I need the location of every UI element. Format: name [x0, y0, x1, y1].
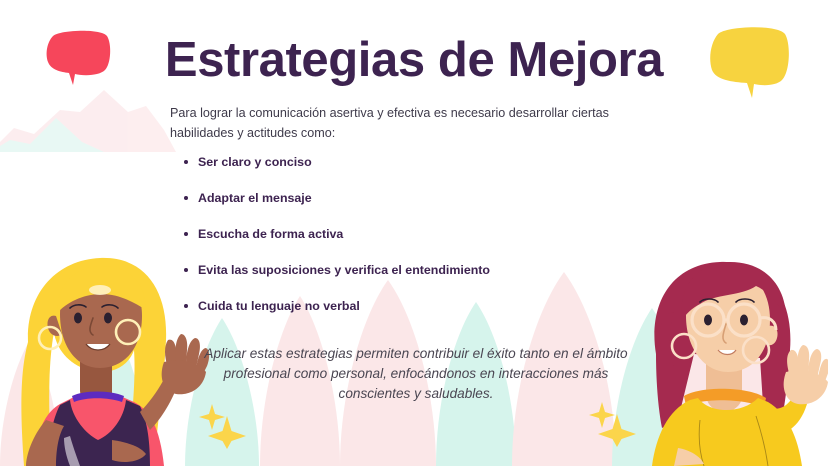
- list-item-label: Evita las suposiciones y verifica el ent…: [198, 263, 490, 277]
- strategies-list: Ser claro y conciso Adaptar el mensaje E…: [182, 155, 490, 334]
- page-title: Estrategias de Mejora: [0, 36, 828, 85]
- list-item: Adaptar el mensaje: [182, 191, 490, 206]
- list-item-label: Ser claro y conciso: [198, 155, 312, 169]
- closing-statement: Aplicar estas estrategias permiten contr…: [194, 344, 638, 404]
- woman-glasses-waving-illustration: [638, 250, 828, 466]
- list-item: Ser claro y conciso: [182, 155, 490, 170]
- list-item: Evita las suposiciones y verifica el ent…: [182, 263, 490, 278]
- list-item-label: Escucha de forma activa: [198, 227, 343, 241]
- list-item: Escucha de forma activa: [182, 227, 490, 242]
- sparkle-icon-left: [198, 402, 248, 450]
- list-item: Cuida tu lenguaje no verbal: [182, 299, 490, 314]
- list-item-label: Adaptar el mensaje: [198, 191, 312, 205]
- list-item-label: Cuida tu lenguaje no verbal: [198, 299, 360, 313]
- slide-canvas: Estrategias de Mejora Para lograr la com…: [0, 0, 828, 466]
- subtitle-text: Para lograr la comunicación asertiva y e…: [170, 104, 660, 143]
- sparkle-icon-right: [588, 400, 638, 448]
- top-left-mountain-shapes: [0, 90, 176, 152]
